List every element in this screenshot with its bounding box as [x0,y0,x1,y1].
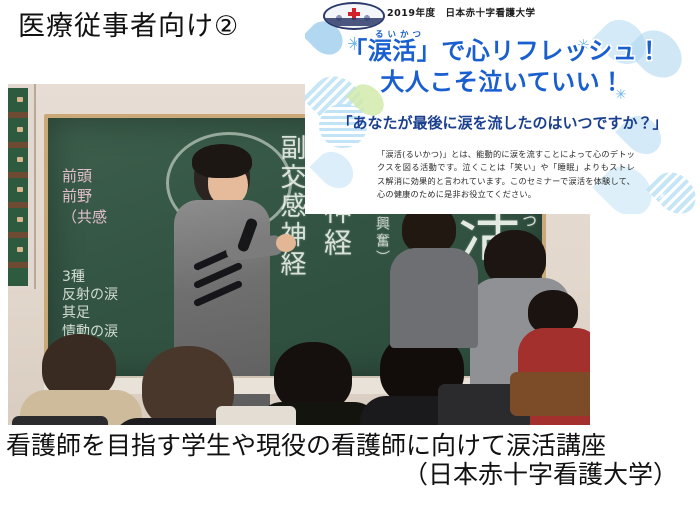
water-drop-icon [310,145,361,196]
slide-caption: 看護師を目指す学生や現役の看護師に向けて涙活講座 （日本赤十字看護大学） [0,432,700,490]
poster-body-text: 「涙活(るいかつ)」とは、能動的に涙を流すことによって心のデトックスを図る活動で… [377,148,635,201]
lecturer-hand [276,234,296,252]
headline-line-1: 「涙活」で心リフレッシュ！ [343,37,662,65]
audience-person [390,204,476,314]
poster-subheadline: 「あなたが最後に涙を流したのはいつですか？」 [305,112,700,133]
chair [510,372,590,416]
caption-line-2: （日本赤十字看護大学） [0,461,700,490]
poster-header-text: 2019年度 日本赤十字看護大学 [387,5,535,19]
caption-line-1: 看護師を目指す学生や現役の看護師に向けて涙活講座 [0,432,700,461]
event-poster: ✳ ✳ ✳ ✳ 2019年度 日本赤十字看護大学 るいかつ 「涙活」で心リフレッ… [305,0,700,214]
water-drop-icon [646,164,700,214]
poster-headline: 「涙活」で心リフレッシュ！ 大人こそ泣いていい！ [305,36,700,97]
chair [12,416,108,425]
cabinet-icon [8,88,28,286]
headline-line-2: 大人こそ泣いていい！ [305,67,700,98]
blackboard-left-note-2: 3種 反射の涙 其足 情動の涙 [62,268,118,341]
page-title: 医療従事者向け② [18,12,239,42]
university-logo-icon [323,2,385,30]
blackboard-left-note-1: 前頭 前野 （共感 [62,166,107,227]
chair [216,406,296,425]
slide-root: 医療従事者向け② 涙活 るいかつ 中（緊張興奮） 交感神経 副交感神経 前頭 前… [0,0,700,508]
side-cabinet-wall [8,84,36,289]
lecturer-hair [192,144,252,178]
snowflake-icon: ✳ [657,190,667,202]
